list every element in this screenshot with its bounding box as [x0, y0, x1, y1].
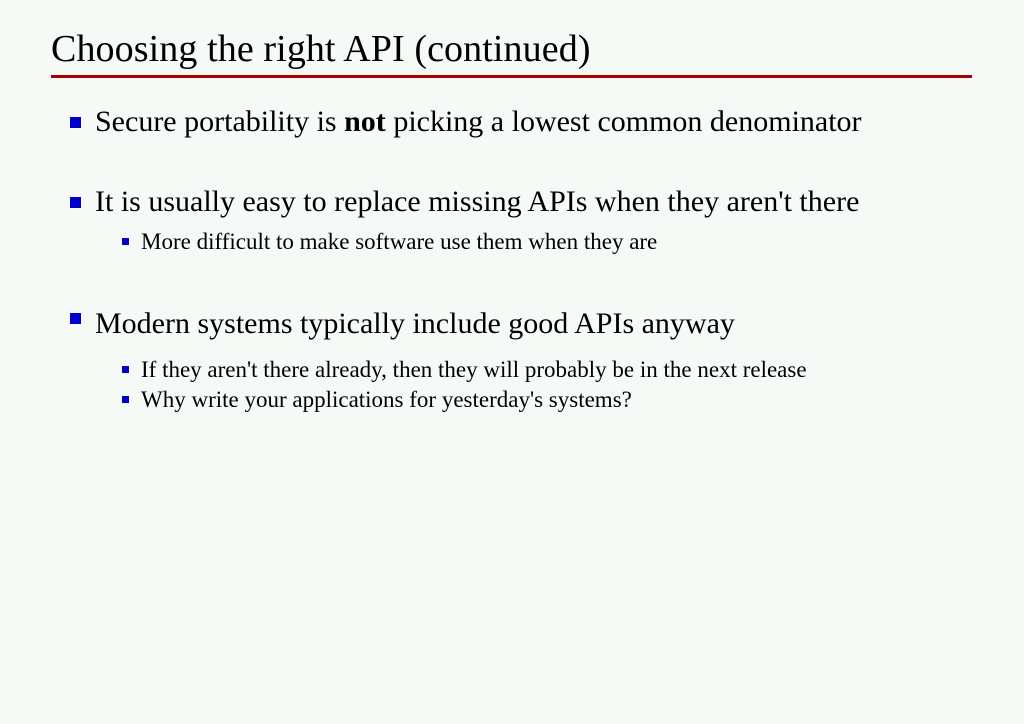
- bullet-text-part-2: picking a lowest common denominator: [386, 105, 862, 138]
- bullet-square-icon: [70, 197, 81, 208]
- bullet-text: It is usually easy to replace missing AP…: [95, 185, 859, 218]
- bullet-item-level1: It is usually easy to replace missing AP…: [0, 183, 1024, 221]
- sub-bullet-text: Why write your applications for yesterda…: [141, 387, 632, 412]
- spacer: [0, 257, 1024, 299]
- sub-bullet-square-icon: [122, 396, 129, 403]
- spacer: [0, 141, 1024, 183]
- bullet-text: Modern systems typically include good AP…: [95, 307, 735, 340]
- slide-body: Secure portability is not picking a lowe…: [0, 103, 1024, 415]
- bullet-item-level1: Secure portability is not picking a lowe…: [0, 103, 1024, 141]
- bullet-text-part-1: Secure portability is: [95, 105, 344, 138]
- title-underline-rule: [51, 75, 972, 78]
- sub-bullet-text: More difficult to make software use them…: [141, 229, 657, 254]
- bullet-item-level2: If they aren't there already, then they …: [0, 355, 1024, 385]
- sub-bullet-square-icon: [122, 238, 129, 245]
- bullet-item-level1: Modern systems typically include good AP…: [0, 299, 1024, 349]
- slide-title-block: Choosing the right API (continued): [51, 26, 972, 78]
- page-title: Choosing the right API (continued): [51, 26, 972, 72]
- bullet-item-level2: Why write your applications for yesterda…: [0, 385, 1024, 415]
- bullet-text-emphasis: not: [344, 105, 386, 138]
- bullet-item-level2: More difficult to make software use them…: [0, 227, 1024, 257]
- slide-canvas: Choosing the right API (continued) Secur…: [0, 0, 1024, 724]
- sub-bullet-text: If they aren't there already, then they …: [141, 357, 807, 382]
- sub-bullet-square-icon: [122, 366, 129, 373]
- bullet-square-icon: [70, 117, 81, 128]
- bullet-square-icon: [70, 313, 81, 324]
